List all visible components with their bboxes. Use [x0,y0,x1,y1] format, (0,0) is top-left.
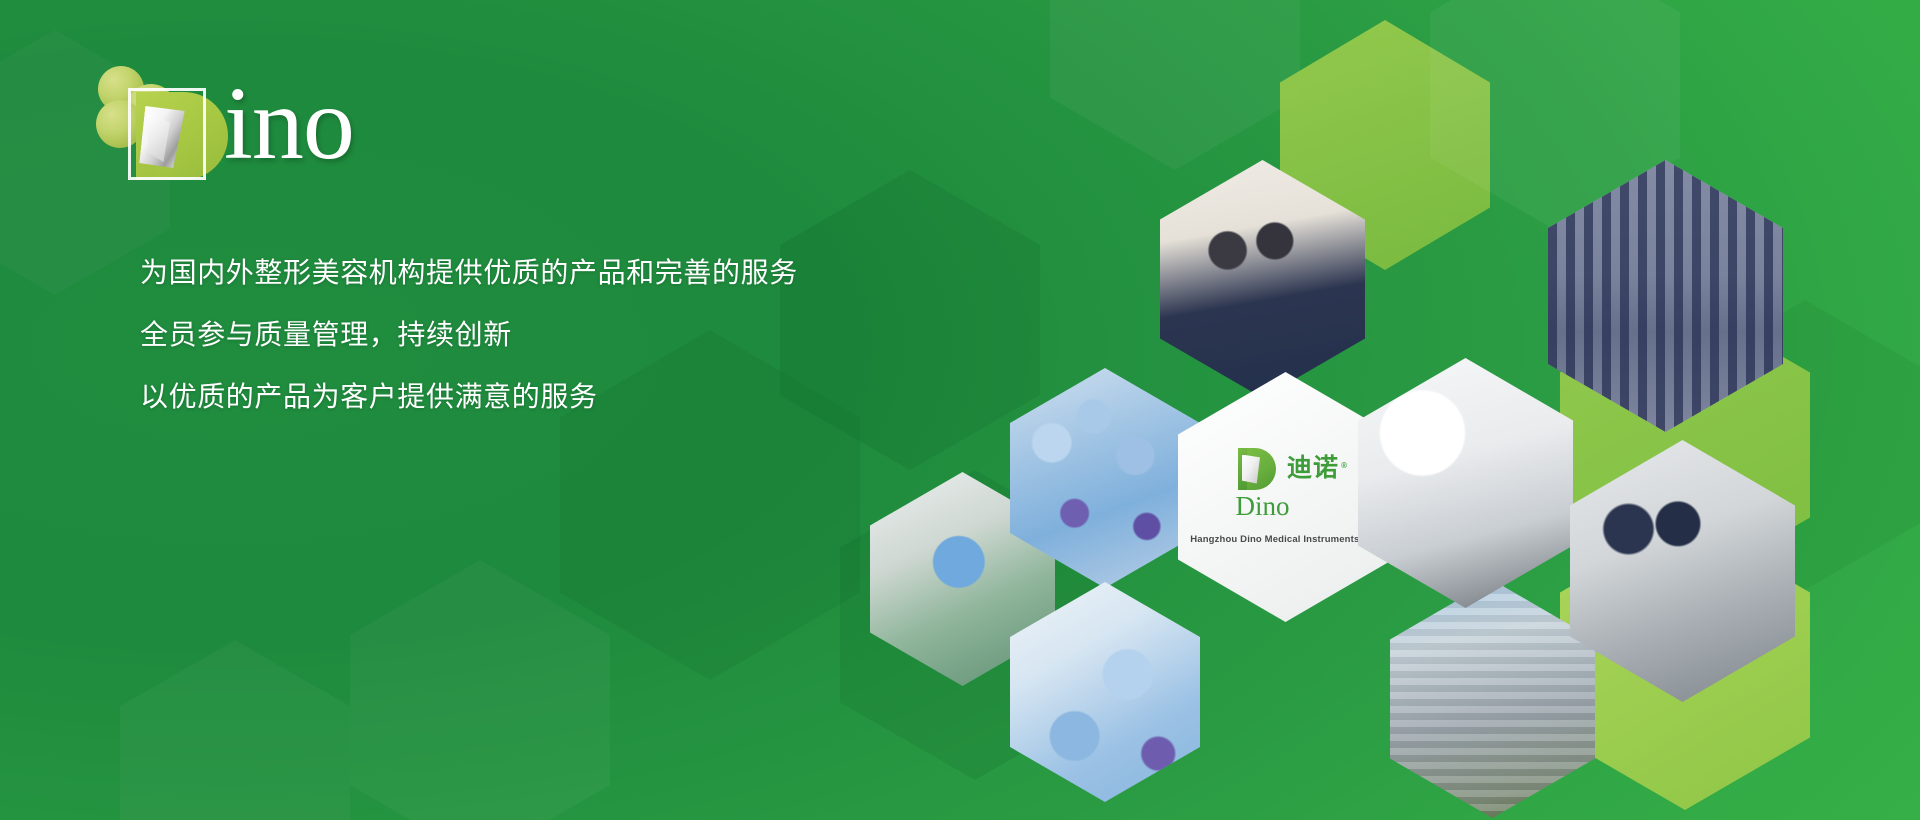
hex-photo-laboratory[interactable] [1358,358,1573,608]
company-building-photo [1390,580,1595,818]
center-logo-en-name: Dino [1236,493,1290,520]
center-logo-cn-name: 迪诺 ® [1287,456,1339,481]
hex-photo-company-building[interactable] [1390,580,1595,818]
logo-wordmark: ino [224,72,354,176]
company-staff-group-photo [1548,160,1783,432]
slogan-line-2: 全员参与质量管理，持续创新 [140,320,798,350]
center-logo-row: 迪诺 ® [1232,446,1339,492]
center-logo-company-line: Hangzhou Dino Medical Instruments Co.. [1190,534,1380,545]
bg-hexagon-dark-3 [350,560,610,820]
dino-logo[interactable]: ino [92,62,512,182]
slogan-line-1: 为国内外整形美容机构提供优质的产品和完善的服务 [140,258,798,288]
laboratory-testing-photo [1358,358,1573,608]
bg-hexagon-dark-8 [120,640,350,820]
hex-photo-staff-group[interactable] [1548,160,1783,432]
dino-leaf-d-mark-icon [92,62,242,180]
registered-trademark-icon: ® [1341,453,1348,478]
cnc-machining-workshop-photo [1570,440,1795,702]
slogan-line-3: 以优质的产品为客户提供满意的服务 [140,382,798,412]
hex-photo-cnc-machining[interactable] [1570,440,1795,702]
hero-banner: ino 为国内外整形美容机构提供优质的产品和完善的服务 全员参与质量管理，持续创… [0,0,1920,820]
center-logo-cn-text: 迪诺 [1287,454,1339,482]
slogan-list: 为国内外整形美容机构提供优质的产品和完善的服务 全员参与质量管理，持续创新 以优… [140,258,798,444]
hex-photo-engineers-inspection[interactable] [1160,160,1365,398]
engineers-inspection-photo [1160,160,1365,398]
center-dino-mark-icon [1232,446,1278,492]
photo-honeycomb-cluster: 迪诺 ® Dino Hangzhou Dino Medical Instrume… [830,110,1920,710]
